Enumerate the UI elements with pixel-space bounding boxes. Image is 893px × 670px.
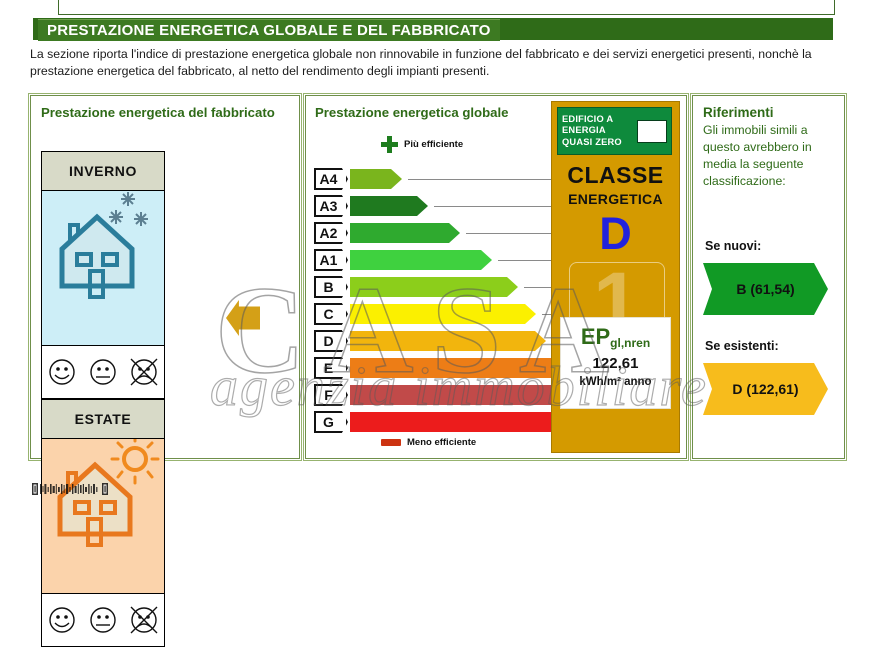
legend-least-efficient: Meno efficiente bbox=[381, 437, 476, 448]
references-panel: Riferimenti Gli immobili simili a questo… bbox=[692, 95, 845, 459]
references-description: Gli immobili simili a questo avrebbero i… bbox=[703, 122, 835, 190]
energy-class-tag-e: E bbox=[314, 357, 348, 379]
legend-most-efficient-label: Più efficiente bbox=[404, 139, 463, 150]
energy-class-bar-a2 bbox=[350, 223, 460, 243]
smiley-happy-icon bbox=[47, 605, 77, 635]
class-heading-block: CLASSE ENERGETICA D bbox=[552, 162, 679, 257]
energy-class-bar-a3 bbox=[350, 196, 428, 216]
minus-bar-icon bbox=[381, 439, 401, 446]
smiley-neutral-icon bbox=[88, 605, 118, 635]
smiley-happy-icon bbox=[47, 357, 77, 387]
energy-class-tag-d: D bbox=[314, 330, 348, 352]
energy-class-bar-b bbox=[350, 277, 518, 297]
ep-value: 122,61 bbox=[561, 355, 670, 372]
season-card-estate: ESTATE bbox=[41, 399, 165, 647]
seasons-container: INVERNO bbox=[41, 151, 299, 647]
ep-subscript: gl,nren bbox=[610, 336, 650, 350]
reference-existing-value: D (122,61) bbox=[732, 381, 798, 397]
energy-class-bar-d bbox=[350, 331, 546, 351]
legend-least-efficient-label: Meno efficiente bbox=[407, 437, 476, 448]
ep-symbol-row: EPgl,nren bbox=[561, 325, 670, 350]
energy-class-tag-g: G bbox=[314, 411, 348, 433]
energy-class-tag-a1: A1 bbox=[314, 249, 348, 271]
house-summer-icon bbox=[42, 439, 164, 593]
barcode-artifact bbox=[32, 483, 112, 495]
plus-icon bbox=[381, 136, 398, 153]
energy-class-tag-a4: A4 bbox=[314, 168, 348, 190]
legend-most-efficient: Più efficiente bbox=[381, 136, 463, 153]
season-illustration-estate bbox=[42, 439, 164, 593]
energy-class-result-panel: EDIFICIO A ENERGIA QUASI ZERO 1 CLASSE E… bbox=[551, 101, 680, 453]
references-title: Riferimenti bbox=[703, 103, 774, 123]
energy-class-bar-a4 bbox=[350, 169, 402, 189]
building-performance-panel: Prestazione energetica del fabbricato IN… bbox=[30, 95, 300, 459]
nzeb-banner: EDIFICIO A ENERGIA QUASI ZERO bbox=[557, 107, 672, 155]
nzeb-checkbox[interactable] bbox=[637, 120, 667, 143]
nzeb-label: EDIFICIO A ENERGIA QUASI ZERO bbox=[562, 114, 637, 149]
energy-class-bar-a1 bbox=[350, 250, 492, 270]
reference-new-chip: B (61,54) bbox=[703, 263, 828, 315]
reference-existing-chip: D (122,61) bbox=[703, 363, 828, 415]
ep-value-card: EPgl,nren 122,61 kWh/m² anno bbox=[560, 317, 671, 409]
season-rating-faces-estate bbox=[42, 593, 164, 646]
energy-class-tag-c: C bbox=[314, 303, 348, 325]
energy-class-tag-a3: A3 bbox=[314, 195, 348, 217]
energy-class-letter: D bbox=[552, 211, 679, 257]
page-title: PRESTAZIONE ENERGETICA GLOBALE E DEL FAB… bbox=[38, 19, 500, 41]
energy-class-tag-b: B bbox=[314, 276, 348, 298]
season-rating-faces-inverno bbox=[42, 345, 164, 398]
building-panel-title: Prestazione energetica del fabbricato bbox=[41, 103, 291, 123]
energy-class-bar-c bbox=[350, 304, 536, 324]
smiley-crossed-icon bbox=[129, 357, 159, 387]
ep-symbol: EP bbox=[581, 324, 610, 349]
sun-icon bbox=[112, 439, 158, 483]
energy-class-tag-a2: A2 bbox=[314, 222, 348, 244]
house-winter-icon bbox=[42, 191, 164, 345]
energy-class-tag-f: F bbox=[314, 384, 348, 406]
snowflake-icon bbox=[109, 192, 148, 226]
season-illustration-inverno bbox=[42, 191, 164, 345]
reference-new-label: Se nuovi: bbox=[705, 239, 761, 253]
energy-class-bar-f bbox=[350, 385, 578, 405]
ape-energy-certificate-page: PRESTAZIONE ENERGETICA GLOBALE E DEL FAB… bbox=[0, 0, 893, 670]
smiley-crossed-icon bbox=[129, 605, 159, 635]
reference-existing-label: Se esistenti: bbox=[705, 339, 779, 353]
class-title-line2: ENERGETICA bbox=[552, 191, 679, 207]
class-title-line1: CLASSE bbox=[552, 162, 679, 189]
ep-unit: kWh/m² anno bbox=[561, 376, 670, 388]
season-label-estate: ESTATE bbox=[42, 400, 164, 439]
energy-class-bar-e bbox=[350, 358, 562, 378]
global-panel-title: Prestazione energetica globale bbox=[315, 103, 509, 123]
smiley-neutral-icon bbox=[88, 357, 118, 387]
season-label-inverno: INVERNO bbox=[42, 152, 164, 191]
top-stub-box bbox=[58, 0, 835, 15]
reference-new-value: B (61,54) bbox=[736, 281, 794, 297]
season-card-inverno: INVERNO bbox=[41, 151, 165, 399]
header-description: La sezione riporta l'indice di prestazio… bbox=[30, 46, 870, 80]
